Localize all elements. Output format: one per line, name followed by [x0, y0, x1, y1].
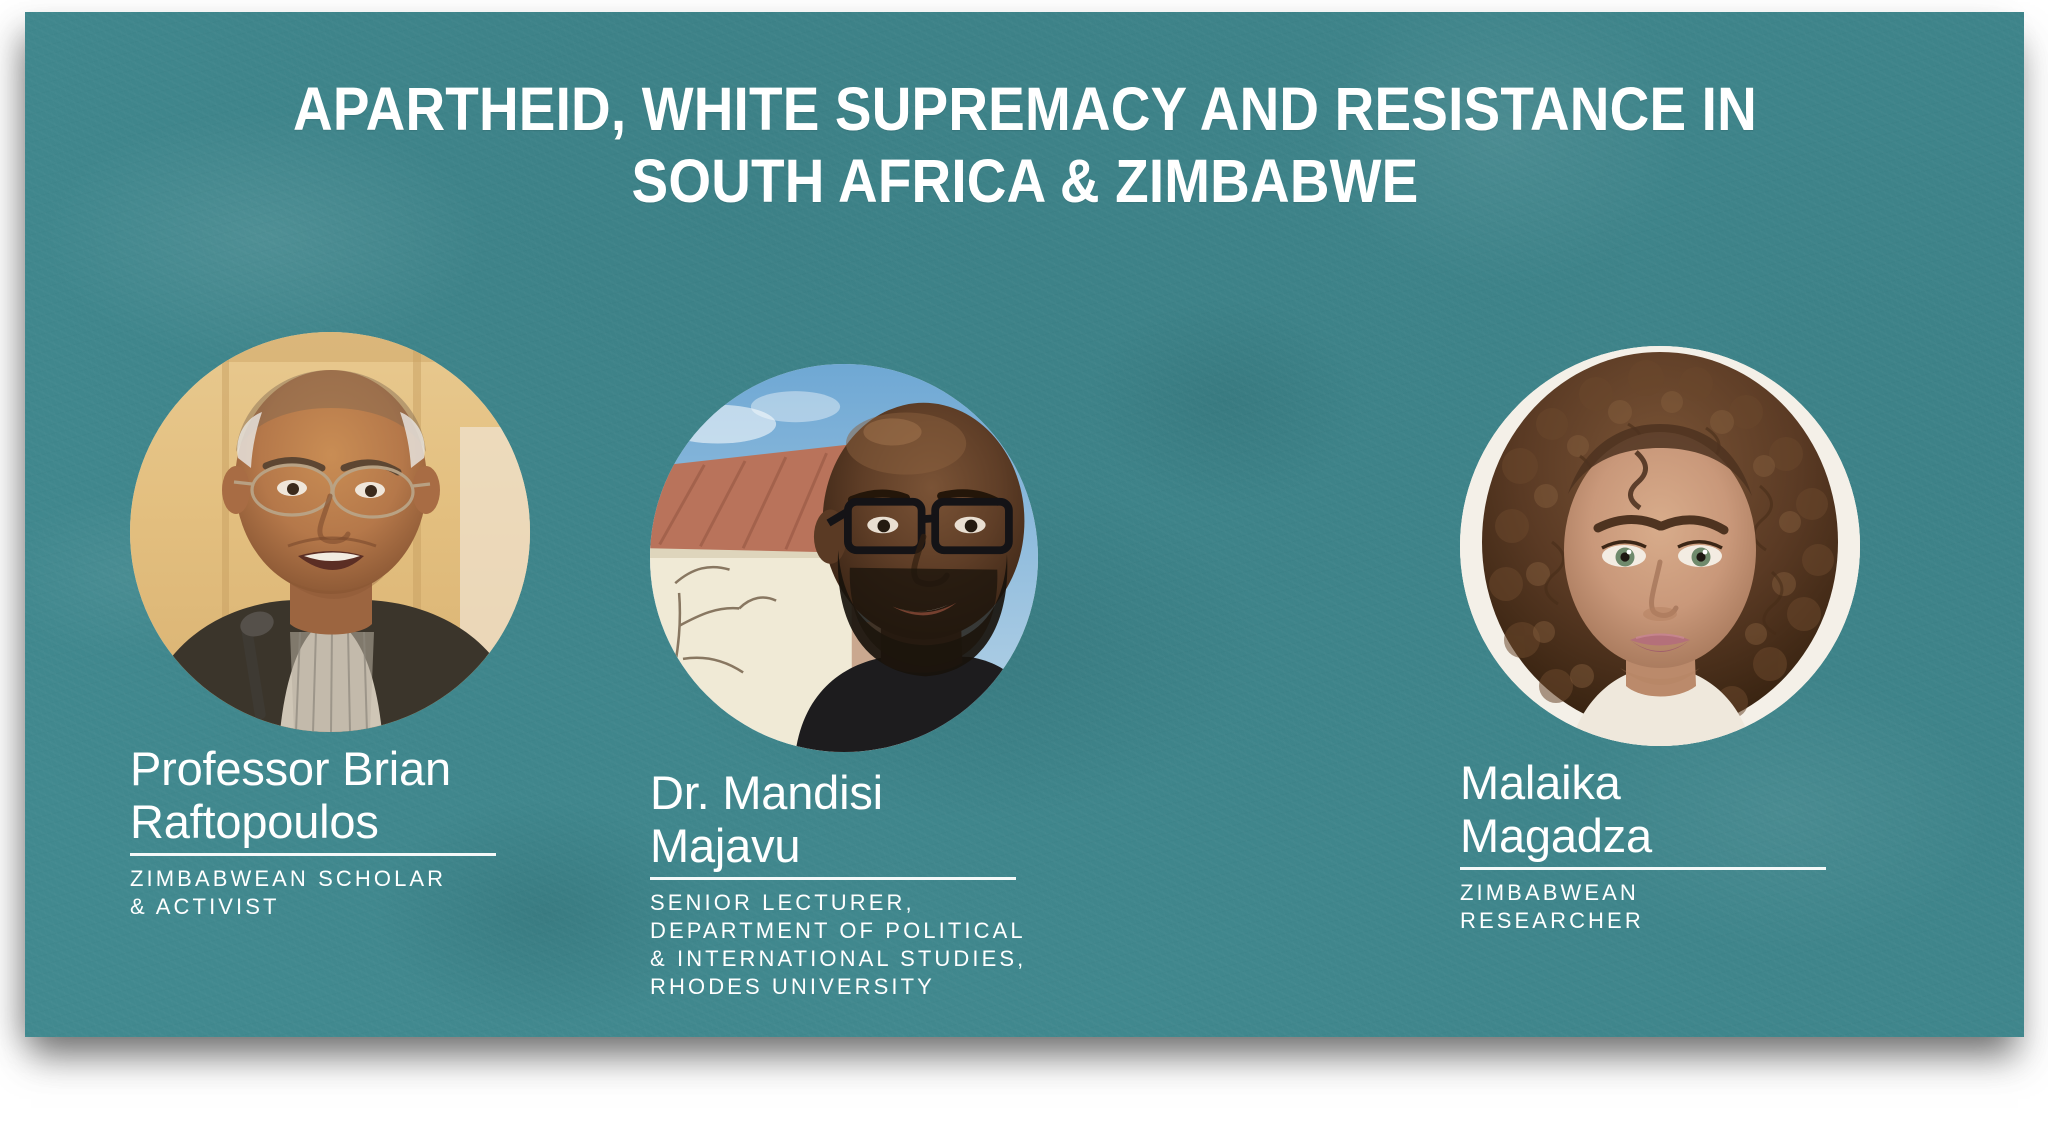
speaker-role: ZIMBABWEAN RESEARCHER [1460, 879, 1860, 935]
presentation-slide: APARTHEID, WHITE SUPREMACY AND RESISTANC… [25, 12, 2024, 1037]
speaker-card-2: Dr. Mandisi Majavu SENIOR LECTURER, DEPA… [650, 364, 1050, 1001]
portrait-mandisi-majavu [650, 364, 1038, 752]
speaker-divider [650, 877, 1016, 880]
portrait-malaika-magadza [1460, 346, 1860, 746]
speaker-name: Professor Brian Raftopoulos [130, 742, 530, 848]
speaker-card-3: Malaika Magadza ZIMBABWEAN RESEARCHER [1460, 346, 1860, 935]
speaker-divider [1460, 867, 1826, 870]
speaker-divider [130, 853, 496, 856]
portrait-brian-raftopoulos [130, 332, 530, 732]
speaker-card-1: Professor Brian Raftopoulos ZIMBABWEAN S… [130, 332, 530, 921]
speaker-name: Malaika Magadza [1460, 756, 1860, 862]
speaker-name: Dr. Mandisi Majavu [650, 766, 1050, 872]
speaker-role: ZIMBABWEAN SCHOLAR & ACTIVIST [130, 865, 530, 921]
slide-title: APARTHEID, WHITE SUPREMACY AND RESISTANC… [179, 73, 1871, 217]
speaker-role: SENIOR LECTURER, DEPARTMENT OF POLITICAL… [650, 889, 1050, 1001]
